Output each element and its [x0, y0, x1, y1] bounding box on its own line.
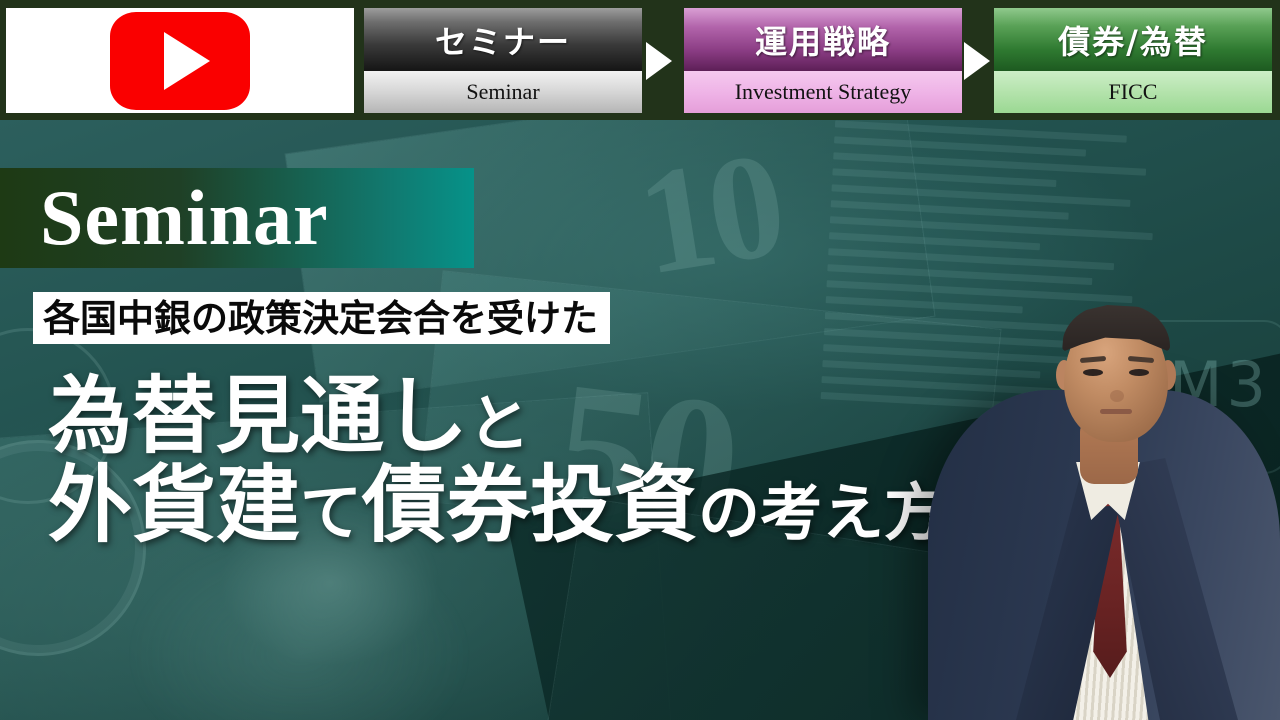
denomination-10: 10: [627, 120, 790, 310]
badge-seminar[interactable]: セミナー Seminar: [364, 8, 642, 113]
presenter-eye-right: [1129, 369, 1149, 376]
title-line2-main: 外貨建: [48, 456, 300, 554]
thumbnail-canvas: 10 50 M3: [0, 0, 1280, 720]
play-triangle-icon: [164, 32, 210, 90]
badge-ficc-en: FICC: [994, 71, 1272, 113]
badge-strategy-en: Investment Strategy: [684, 71, 962, 113]
presenter-photo: [920, 160, 1280, 720]
presenter-eye-left: [1083, 369, 1103, 376]
top-bar: セミナー Seminar 運用戦略 Investment Strategy 債券…: [0, 0, 1280, 120]
subtitle-strip: 各国中銀の政策決定会合を受けた: [33, 292, 610, 344]
subtitle-text: 各国中銀の政策決定会合を受けた: [43, 300, 598, 337]
arrow-right-icon: [646, 42, 672, 80]
badge-ficc[interactable]: 債券/為替 FICC: [994, 8, 1272, 113]
title-line1-tail: と: [468, 387, 530, 460]
badge-investment-strategy[interactable]: 運用戦略 Investment Strategy: [684, 8, 962, 113]
title-line2-mid: て: [300, 476, 362, 549]
title-line2-main2: 債券投資: [362, 456, 698, 554]
title-line2-tail: の考え方: [698, 476, 946, 549]
badge-strategy-jp: 運用戦略: [684, 8, 962, 71]
badge-seminar-en: Seminar: [364, 71, 642, 113]
arrow-right-icon: [964, 42, 990, 80]
title-line1-main: 為替見通し: [48, 367, 468, 465]
badge-ficc-jp: 債券/為替: [994, 8, 1272, 71]
youtube-logo-icon: [110, 12, 250, 110]
main-title: 為替見通しと 外貨建て債券投資の考え方: [48, 372, 946, 550]
badge-seminar-jp: セミナー: [364, 8, 642, 71]
seminar-banner: Seminar: [0, 168, 474, 268]
seminar-banner-label: Seminar: [40, 179, 329, 257]
main-title-line-1: 為替見通しと: [48, 372, 946, 461]
youtube-logo-panel[interactable]: [6, 8, 354, 113]
presenter-mouth: [1100, 409, 1132, 414]
presenter-nose: [1110, 390, 1124, 402]
main-title-line-2: 外貨建て債券投資の考え方: [48, 461, 946, 550]
